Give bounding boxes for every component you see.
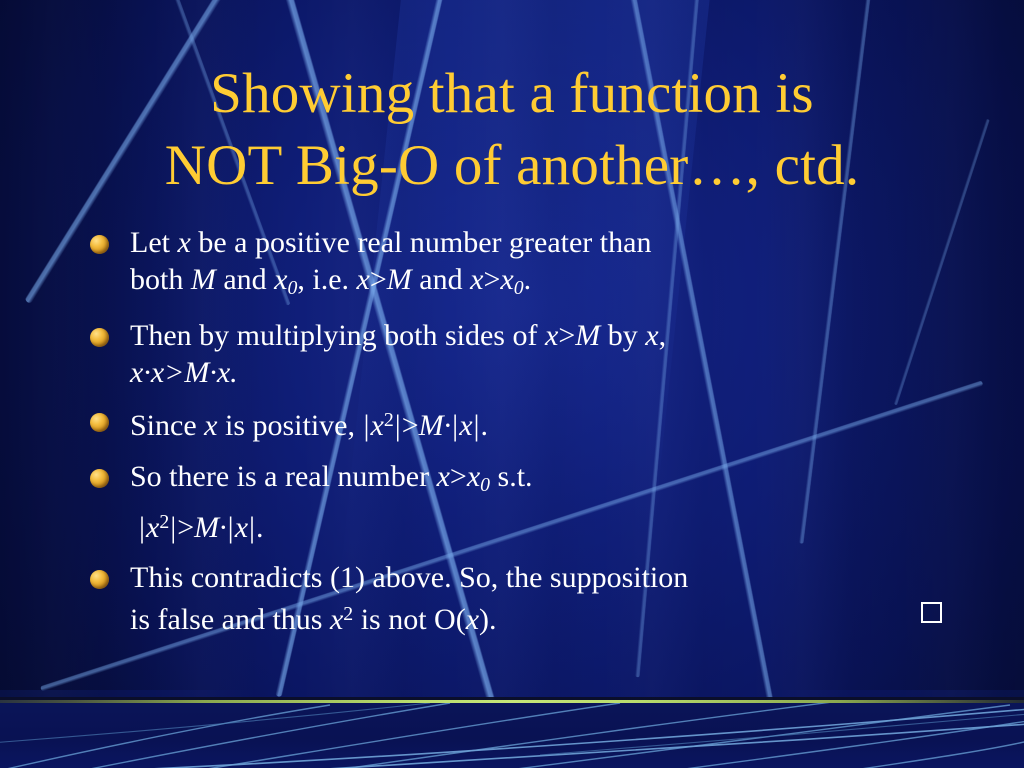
bullet-2-line-2: x·x>M·x. xyxy=(130,354,964,391)
qed-box-icon xyxy=(917,596,942,633)
bullet-2-line-1: Then by multiplying both sides of x>M by… xyxy=(130,317,964,354)
bullet-sphere-icon xyxy=(90,413,109,432)
bullet-2-expression: x·x>M·x. xyxy=(130,356,238,389)
bullet-5-line-1: This contradicts (1) above. So, the supp… xyxy=(130,559,964,596)
bullet-3-expression: |x2|>M·|x|. xyxy=(363,409,489,442)
slide-body: Let x be a positive real number greater … xyxy=(84,224,964,646)
footer-sweep-lines xyxy=(0,703,1024,768)
list-item: So there is a real number x>x0 s.t. |x2|… xyxy=(84,458,964,546)
bullet-5-line-2: is false and thus x2 is not O(x). xyxy=(130,596,964,638)
bullet-1-line-2: both M and x0, i.e. x>M and x>x0. xyxy=(130,261,964,307)
bullet-4-expression: |x2|>M·|x|. xyxy=(138,511,264,544)
bullet-1-line-1: Let x be a positive real number greater … xyxy=(130,224,964,261)
slide-title-line-2: NOT Big-O of another…, ctd. xyxy=(60,130,964,202)
bullet-sphere-icon xyxy=(90,570,109,589)
list-item: Since x is positive, |x2|>M·|x|. xyxy=(84,402,964,444)
slide-title-line-1: Showing that a function is xyxy=(60,58,964,130)
bullet-4-line-2: |x2|>M·|x|. xyxy=(130,504,964,546)
list-item: This contradicts (1) above. So, the supp… xyxy=(84,559,964,638)
list-item: Let x be a positive real number greater … xyxy=(84,224,964,307)
bullet-4-line-1: So there is a real number x>x0 s.t. xyxy=(130,458,964,504)
slide-title: Showing that a function is NOT Big-O of … xyxy=(60,58,964,202)
bullet-sphere-icon xyxy=(90,235,109,254)
bullet-sphere-icon xyxy=(90,469,109,488)
bullet-3-line-1: Since x is positive, |x2|>M·|x|. xyxy=(130,402,964,444)
bullet-sphere-icon xyxy=(90,328,109,347)
list-item: Then by multiplying both sides of x>M by… xyxy=(84,317,964,391)
footer-band xyxy=(0,703,1024,768)
slide-canvas: Showing that a function is NOT Big-O of … xyxy=(0,0,1024,768)
